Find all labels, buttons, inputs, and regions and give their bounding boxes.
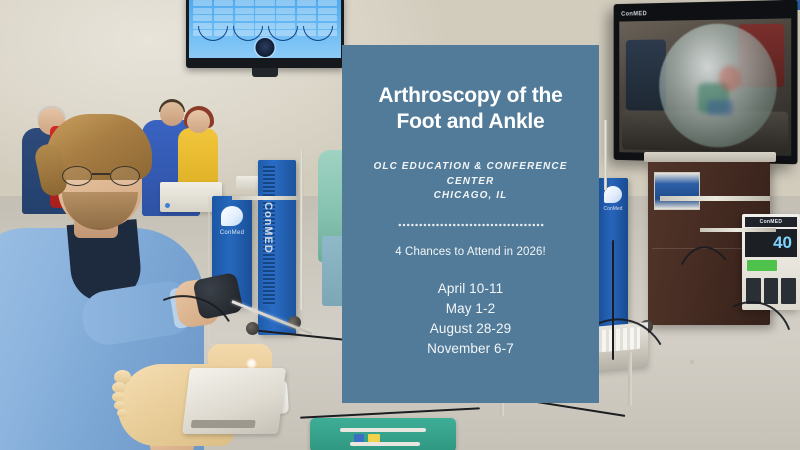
wall-mounted-agenda-screen (186, 0, 344, 68)
pump-brand-label: ConMED (745, 217, 797, 227)
shelf-rail (700, 228, 776, 232)
event-title-line-1: Arthroscopy of the (378, 83, 562, 109)
event-title: Arthroscopy of the Foot and Ankle (378, 83, 562, 134)
iv-pole (300, 150, 303, 310)
event-venue: OLC EDUCATION & CONFERENCE CENTER CHICAG… (356, 160, 585, 204)
green-instrument-tray (310, 418, 456, 450)
model-toes (112, 368, 146, 418)
pump-status-indicator (747, 260, 777, 271)
list-item: May 1-2 (446, 299, 495, 318)
cart-castor (246, 322, 259, 335)
event-venue-line-2: CHICAGO, IL (356, 189, 585, 204)
endoscopic-video-feed (619, 18, 791, 156)
iv-pole (604, 120, 607, 190)
event-venue-line-1: OLC EDUCATION & CONFERENCE CENTER (356, 160, 585, 189)
event-info-panel: Arthroscopy of the Foot and Ankle OLC ED… (342, 45, 599, 403)
eyeglasses-icon (62, 166, 140, 186)
arthroscope-light-tip (246, 358, 257, 369)
conmed-tower-center: ConMED (258, 160, 296, 335)
conmed-brand-text: ConMed (598, 206, 628, 212)
cabinet-label-plate (654, 172, 700, 210)
agenda-screen-surface (189, 0, 341, 58)
monitor-brand-label: ConMED (621, 11, 647, 17)
event-date-list: April 10-11 May 1-2 August 28-29 Novembe… (427, 279, 514, 359)
cable (612, 240, 614, 360)
monitor-stand (252, 68, 278, 77)
list-item: April 10-11 (438, 279, 503, 298)
promotional-graphic: ConMED UT (0, 0, 800, 450)
list-item: November 6-7 (427, 339, 514, 358)
agenda-screen-logo (256, 38, 275, 57)
dotted-divider (398, 223, 544, 227)
conmed-brand-text: ConMED (262, 202, 274, 302)
list-item: August 28-29 (430, 319, 512, 338)
limb-holder-clamp (182, 368, 286, 434)
shelf-rail (660, 196, 770, 201)
event-tagline: 4 Chances to Attend in 2026! (395, 246, 546, 258)
conmed-brand-text: ConMed (212, 230, 252, 236)
conmed-logo-mark (221, 206, 243, 226)
event-title-line-2: Foot and Ankle (378, 109, 562, 135)
shelf-rail (232, 196, 300, 200)
pump-value-readout: 40 (745, 229, 797, 257)
conmed-arthroscopy-monitor: ConMED (614, 0, 798, 164)
